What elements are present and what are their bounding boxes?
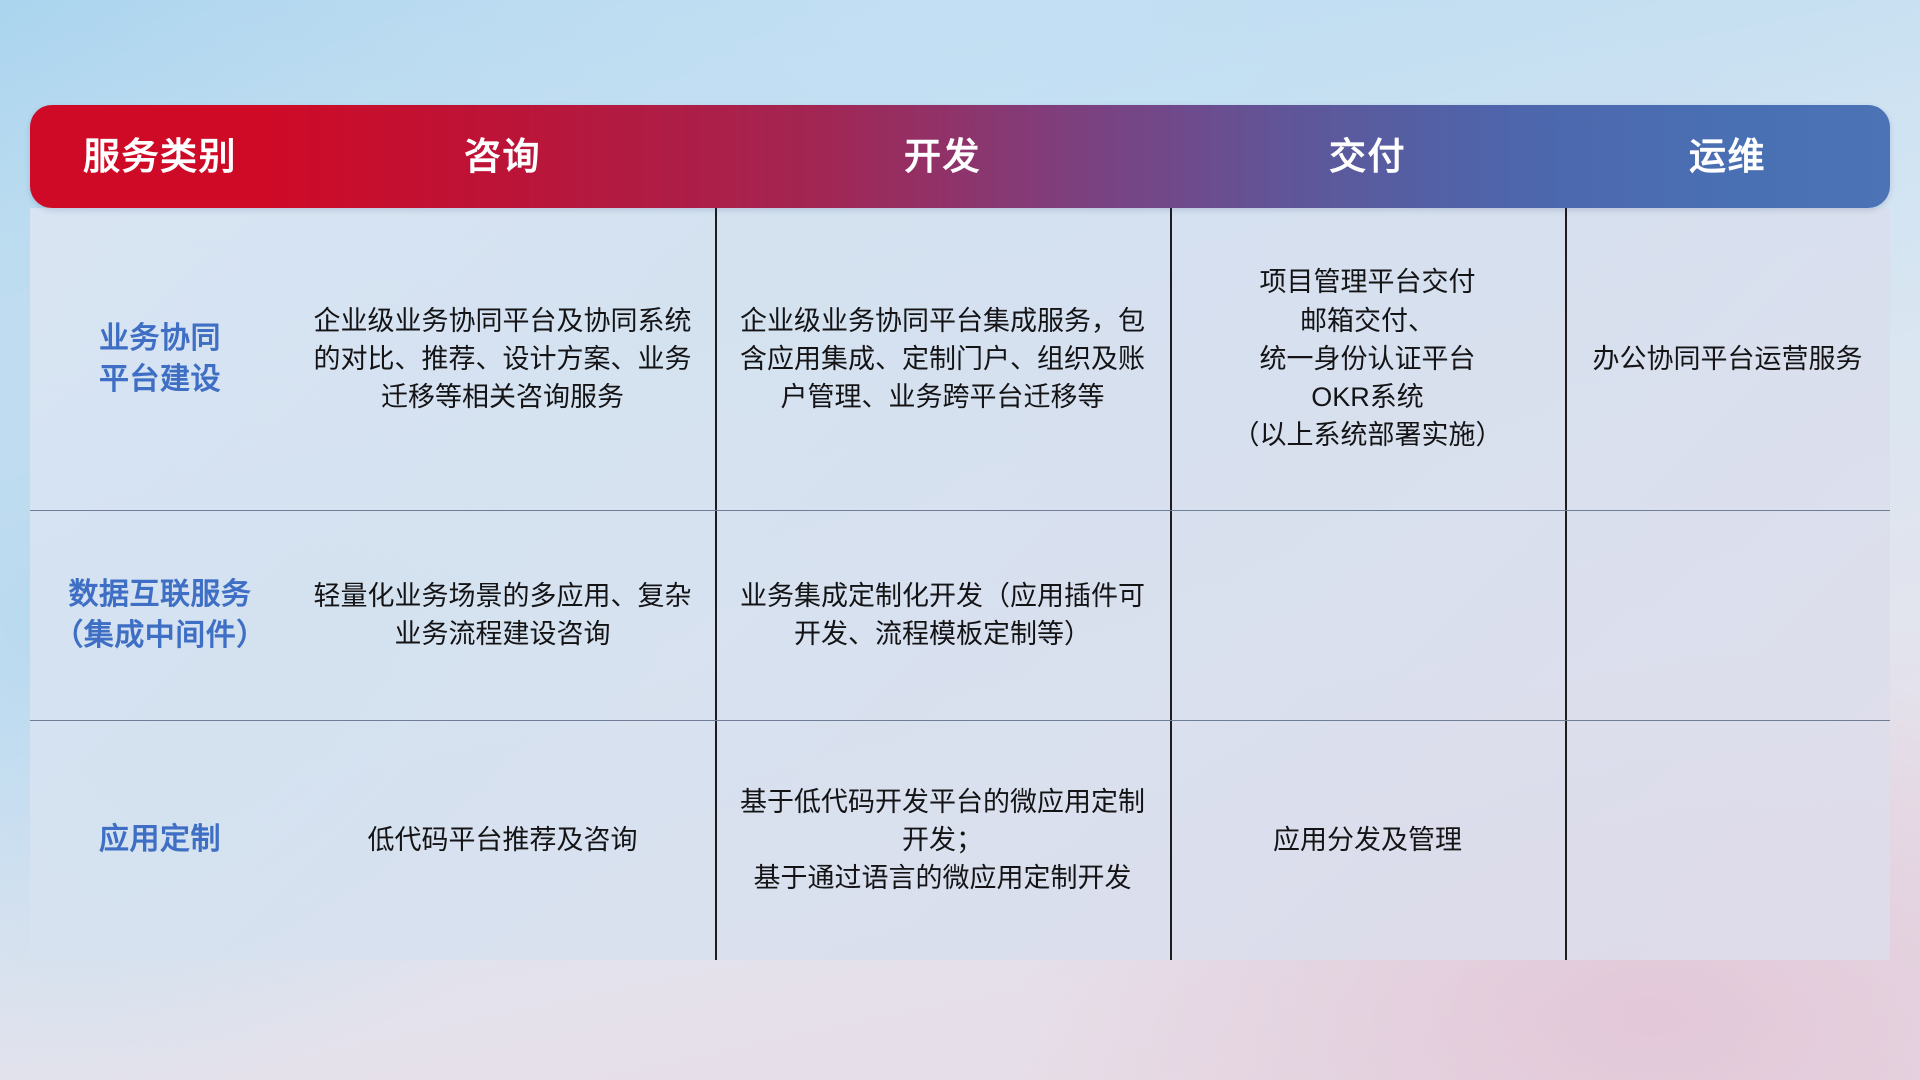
cell-consulting: 轻量化业务场景的多应用、复杂业务流程建设咨询 bbox=[290, 510, 715, 720]
cell-consulting: 低代码平台推荐及咨询 bbox=[290, 720, 715, 960]
table-row: 数据互联服务 （集成中间件） 轻量化业务场景的多应用、复杂业务流程建设咨询 业务… bbox=[30, 510, 1890, 720]
cell-delivery: 项目管理平台交付 邮箱交付、 统一身份认证平台 OKR系统 （以上系统部署实施） bbox=[1170, 208, 1565, 510]
cell-delivery bbox=[1170, 510, 1565, 720]
cell-development: 基于低代码开发平台的微应用定制开发； 基于通过语言的微应用定制开发 bbox=[715, 720, 1170, 960]
cell-development: 业务集成定制化开发（应用插件可开发、流程模板定制等） bbox=[715, 510, 1170, 720]
cell-operations bbox=[1565, 720, 1890, 960]
header-cell-consulting: 咨询 bbox=[290, 138, 715, 175]
table-row: 应用定制 低代码平台推荐及咨询 基于低代码开发平台的微应用定制开发； 基于通过语… bbox=[30, 720, 1890, 960]
slide-canvas: 服务类别 咨询 开发 交付 运维 业务协同 平台建设 企业级业务协同平台及协同系… bbox=[0, 0, 1920, 1080]
cell-development: 企业级业务协同平台集成服务，包含应用集成、定制门户、组织及账户管理、业务跨平台迁… bbox=[715, 208, 1170, 510]
cell-consulting: 企业级业务协同平台及协同系统的对比、推荐、设计方案、业务迁移等相关咨询服务 bbox=[290, 208, 715, 510]
header-cell-delivery: 交付 bbox=[1170, 138, 1565, 175]
service-matrix-table: 服务类别 咨询 开发 交付 运维 业务协同 平台建设 企业级业务协同平台及协同系… bbox=[30, 105, 1890, 960]
table-header-row: 服务类别 咨询 开发 交付 运维 bbox=[30, 105, 1890, 208]
row-category-label: 数据互联服务 （集成中间件） bbox=[30, 510, 290, 720]
cell-operations: 办公协同平台运营服务 bbox=[1565, 208, 1890, 510]
cell-operations bbox=[1565, 510, 1890, 720]
header-cell-operations: 运维 bbox=[1565, 138, 1890, 175]
header-cell-development: 开发 bbox=[715, 138, 1170, 175]
row-category-label: 应用定制 bbox=[30, 720, 290, 960]
row-category-label: 业务协同 平台建设 bbox=[30, 208, 290, 510]
header-cell-category: 服务类别 bbox=[30, 138, 290, 175]
table-row: 业务协同 平台建设 企业级业务协同平台及协同系统的对比、推荐、设计方案、业务迁移… bbox=[30, 208, 1890, 510]
cell-delivery: 应用分发及管理 bbox=[1170, 720, 1565, 960]
